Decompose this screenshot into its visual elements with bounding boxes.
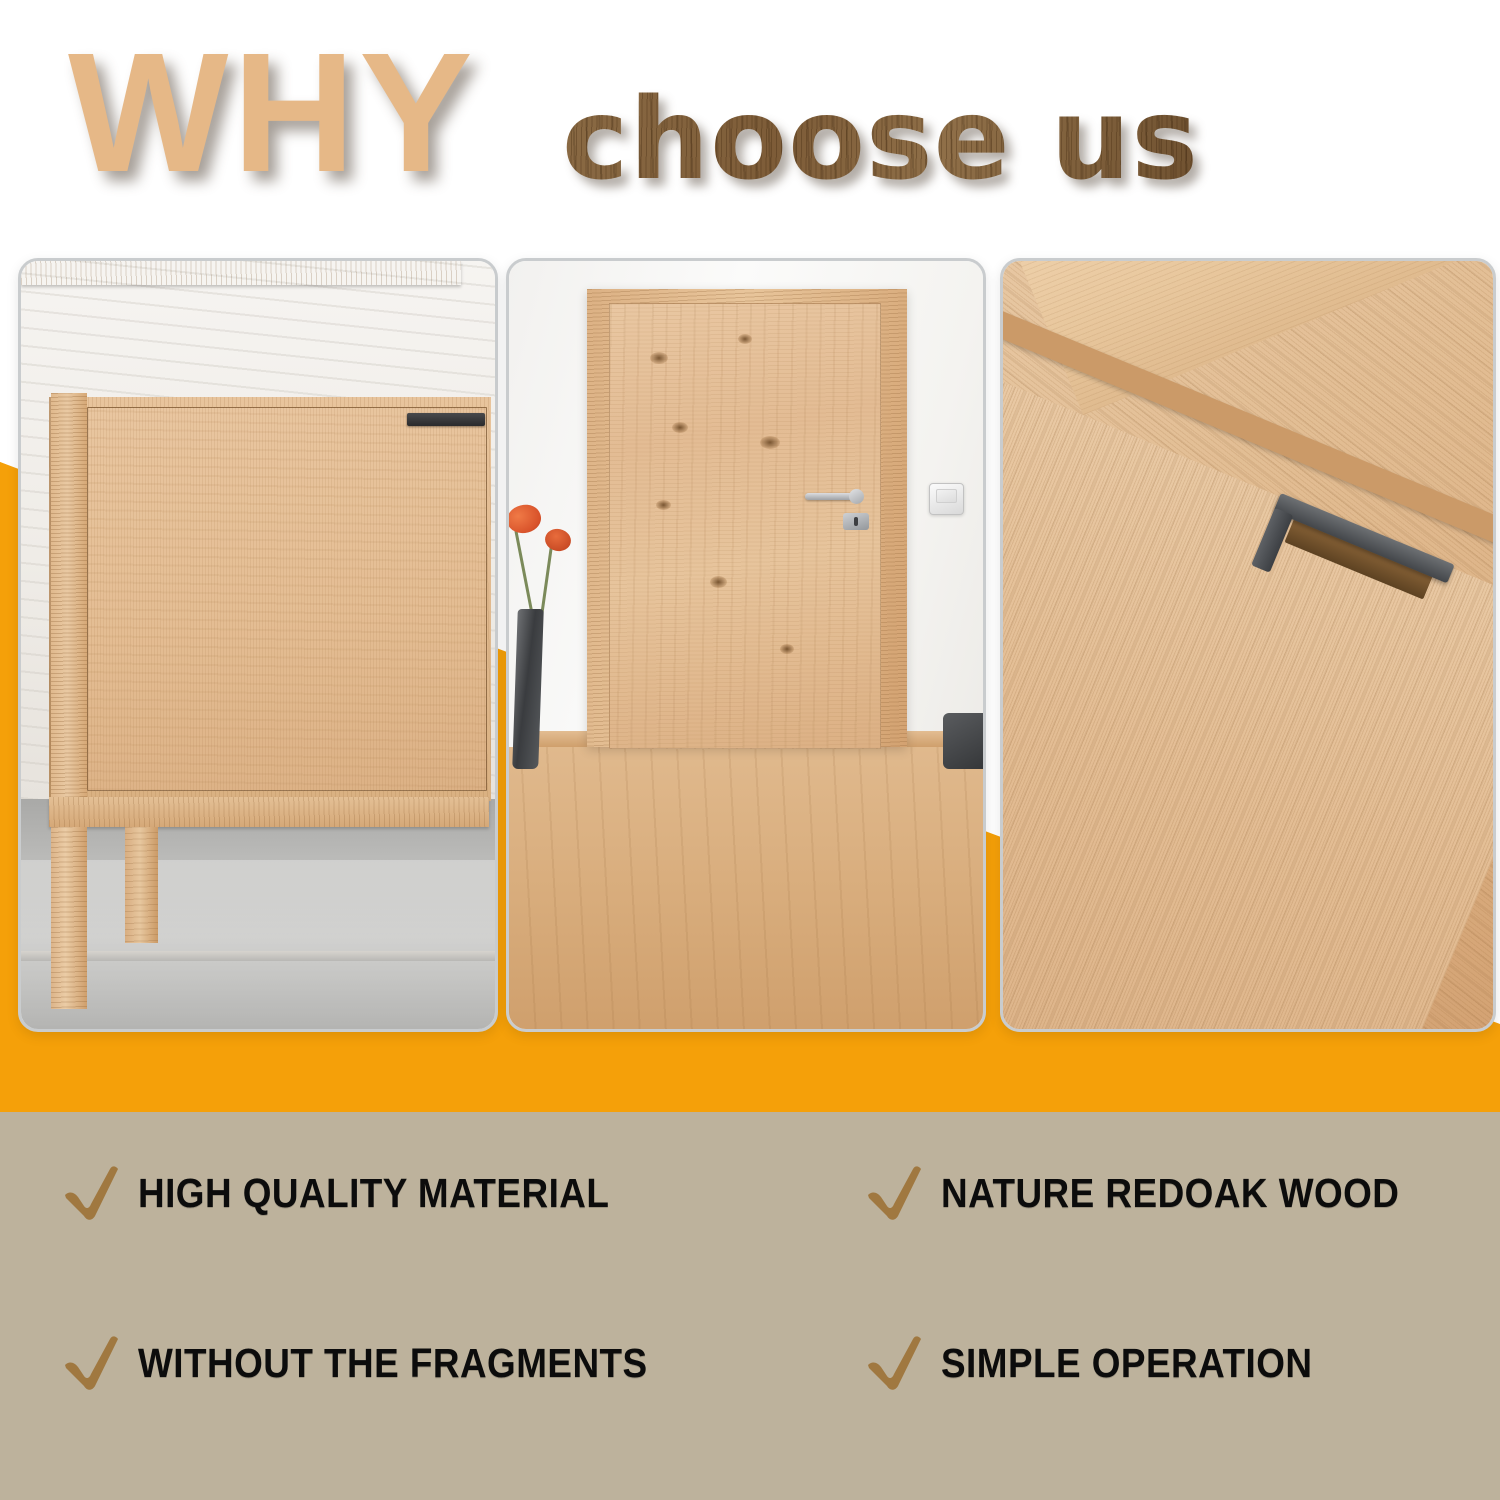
oak-sideboard-photo xyxy=(18,258,498,1032)
feature-item: NATURE REDOAK WOOD xyxy=(865,1164,1450,1222)
wood-knot xyxy=(710,576,727,588)
cabinet-drop-door xyxy=(87,407,487,791)
floor-object xyxy=(943,713,983,769)
features-panel: HIGH QUALITY MATERIAL NATURE REDOAK WOOD… xyxy=(0,1112,1500,1500)
feature-item: WITHOUT THE FRAGMENTS xyxy=(62,1334,704,1392)
oak-handle-closeup-photo xyxy=(1000,258,1496,1032)
feature-label: SIMPLE OPERATION xyxy=(941,1340,1312,1387)
check-icon xyxy=(865,1164,925,1222)
check-icon xyxy=(62,1164,122,1222)
cabinet-leg-left xyxy=(51,827,87,1009)
feature-label: HIGH QUALITY MATERIAL xyxy=(138,1170,609,1217)
infographic-canvas: WHY choose us xyxy=(0,0,1500,1500)
page-title-choose-us: choose us xyxy=(562,84,1199,196)
check-icon xyxy=(865,1334,925,1392)
wood-knot xyxy=(656,500,671,510)
wood-knot xyxy=(650,352,668,364)
floor-reflection xyxy=(21,860,495,1029)
wood-knot xyxy=(738,334,752,344)
door-leaf xyxy=(609,303,881,749)
wood-knot xyxy=(760,436,780,449)
header: WHY choose us xyxy=(0,0,1500,240)
light-switch-rocker xyxy=(936,489,957,503)
wall-baseboard xyxy=(21,951,495,961)
cabinet-left-post xyxy=(51,393,87,813)
feature-item: SIMPLE OPERATION xyxy=(865,1334,1354,1392)
wood-knot xyxy=(780,644,794,654)
oak-door-photo xyxy=(506,258,986,1032)
keyhole xyxy=(854,517,858,526)
wood-knot xyxy=(672,422,688,433)
cabinet-leg-right xyxy=(125,827,158,943)
cabinet-handle xyxy=(407,413,485,426)
feature-item: HIGH QUALITY MATERIAL xyxy=(62,1164,662,1222)
feature-label: WITHOUT THE FRAGMENTS xyxy=(138,1340,648,1387)
page-title-why: WHY xyxy=(68,28,477,198)
wood-floor xyxy=(509,747,983,1029)
check-icon xyxy=(62,1334,122,1392)
handle-rosette xyxy=(849,489,864,504)
cabinet-top-edge xyxy=(21,261,461,285)
feature-label: NATURE REDOAK WOOD xyxy=(941,1170,1399,1217)
cabinet-bottom-rail xyxy=(49,797,489,827)
